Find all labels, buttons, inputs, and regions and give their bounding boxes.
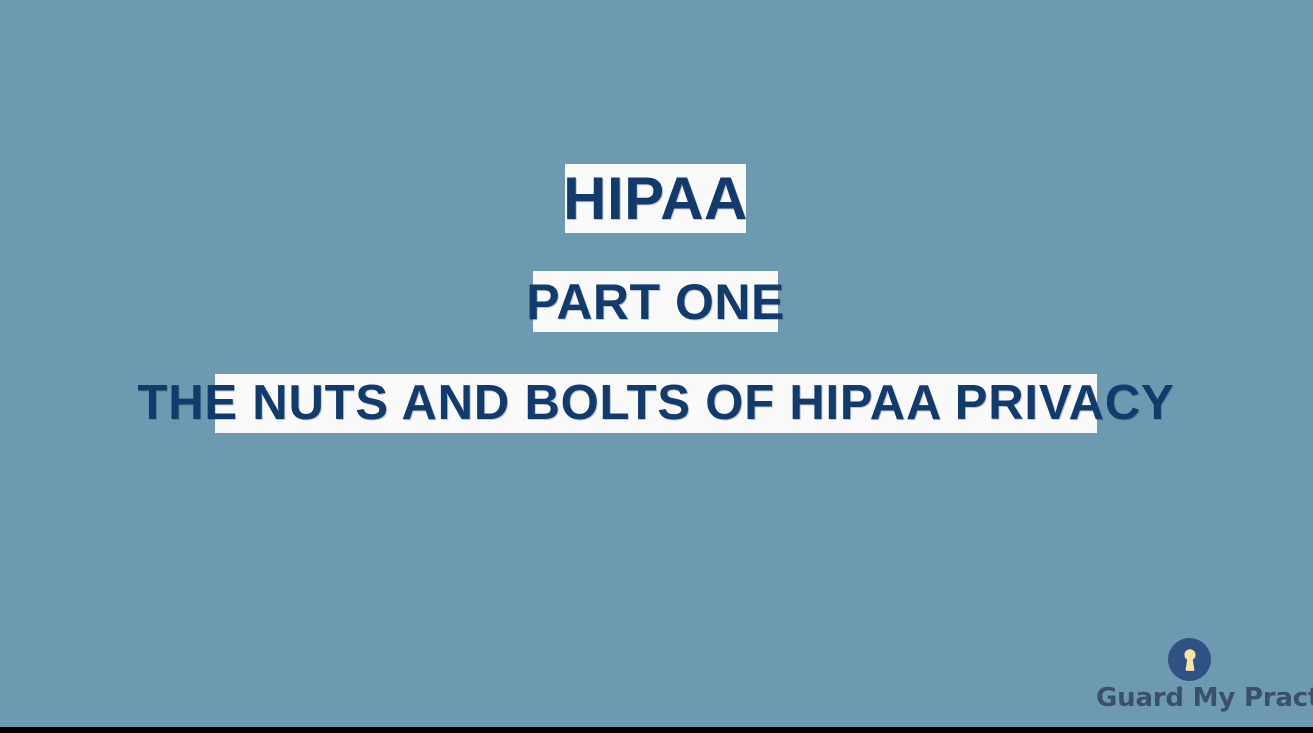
slide-canvas: HIPAA PART ONE THE NUTS AND BOLTS OF HIP… xyxy=(0,0,1313,727)
video-slide: HIPAA PART ONE THE NUTS AND BOLTS OF HIP… xyxy=(0,0,1313,733)
part-label: PART ONE xyxy=(533,271,778,332)
keyhole-icon xyxy=(1180,647,1200,673)
subtitle: THE NUTS AND BOLTS OF HIPAA PRIVACY xyxy=(215,374,1097,433)
page-title: HIPAA xyxy=(565,164,746,233)
logo-wordmark: Guard My Practice xyxy=(1096,683,1292,713)
letterbox-bar xyxy=(0,727,1313,733)
logo-circle xyxy=(1168,638,1211,681)
brand-logo: Guard My Practice xyxy=(1096,638,1292,720)
